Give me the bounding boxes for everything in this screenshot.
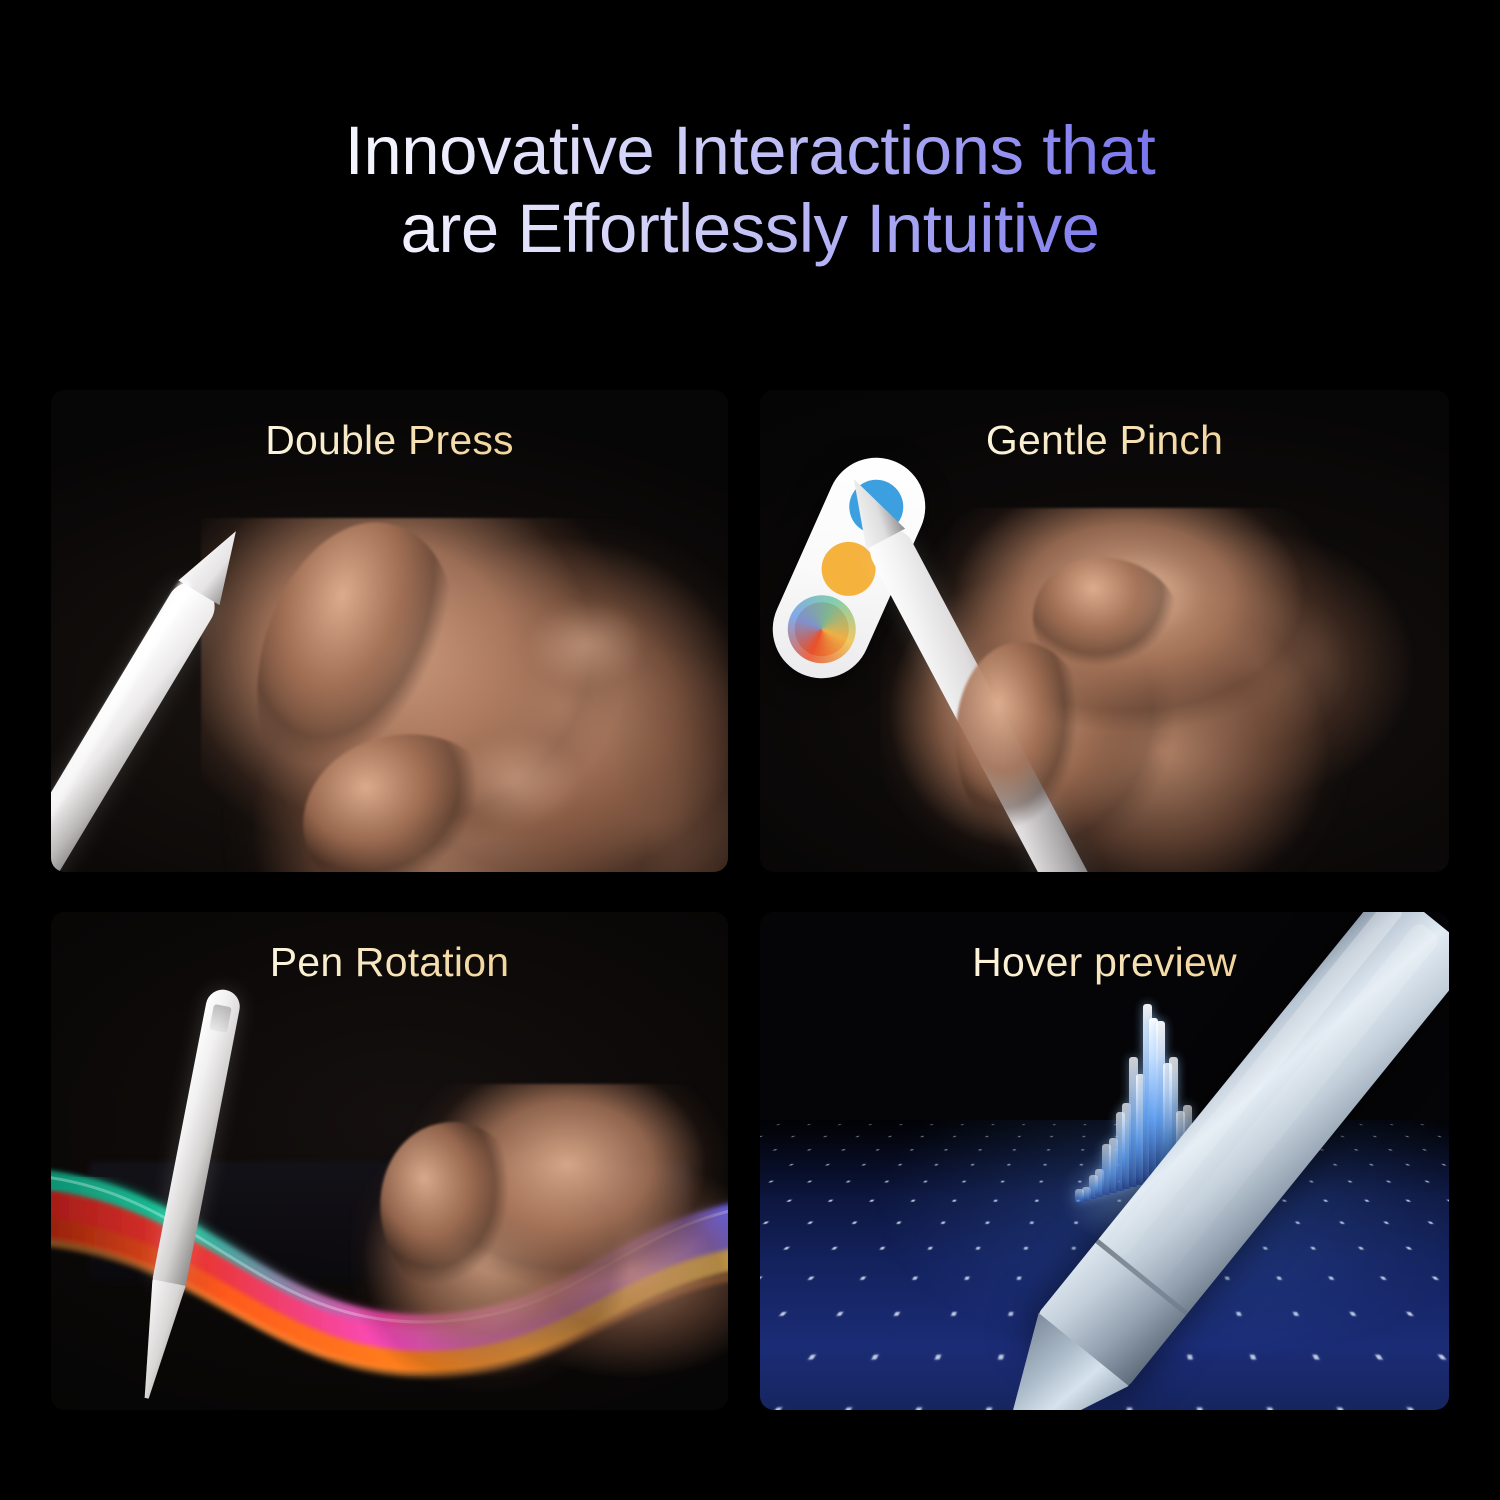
feature-card-grid: Double Press Gentle Pinch [51, 390, 1449, 1410]
pen-rotation-illustration [51, 912, 728, 1410]
gentle-pinch-illustration [760, 390, 1449, 872]
feature-card-gentle-pinch[interactable]: Gentle Pinch [760, 390, 1449, 872]
feature-card-hover-preview[interactable]: Hover preview [760, 912, 1449, 1410]
stylus-flat-edge [209, 1004, 232, 1033]
feature-card-double-press[interactable]: Double Press [51, 390, 728, 872]
page-title: Innovative Interactions that are Effortl… [0, 112, 1500, 268]
palette-color-red[interactable] [786, 594, 857, 665]
feature-card-pen-rotation[interactable]: Pen Rotation [51, 912, 728, 1410]
promo-page: Innovative Interactions that are Effortl… [0, 0, 1500, 1500]
knuckle-highlight [511, 590, 661, 700]
hover-preview-illustration [760, 912, 1449, 1410]
double-press-illustration [51, 390, 728, 872]
